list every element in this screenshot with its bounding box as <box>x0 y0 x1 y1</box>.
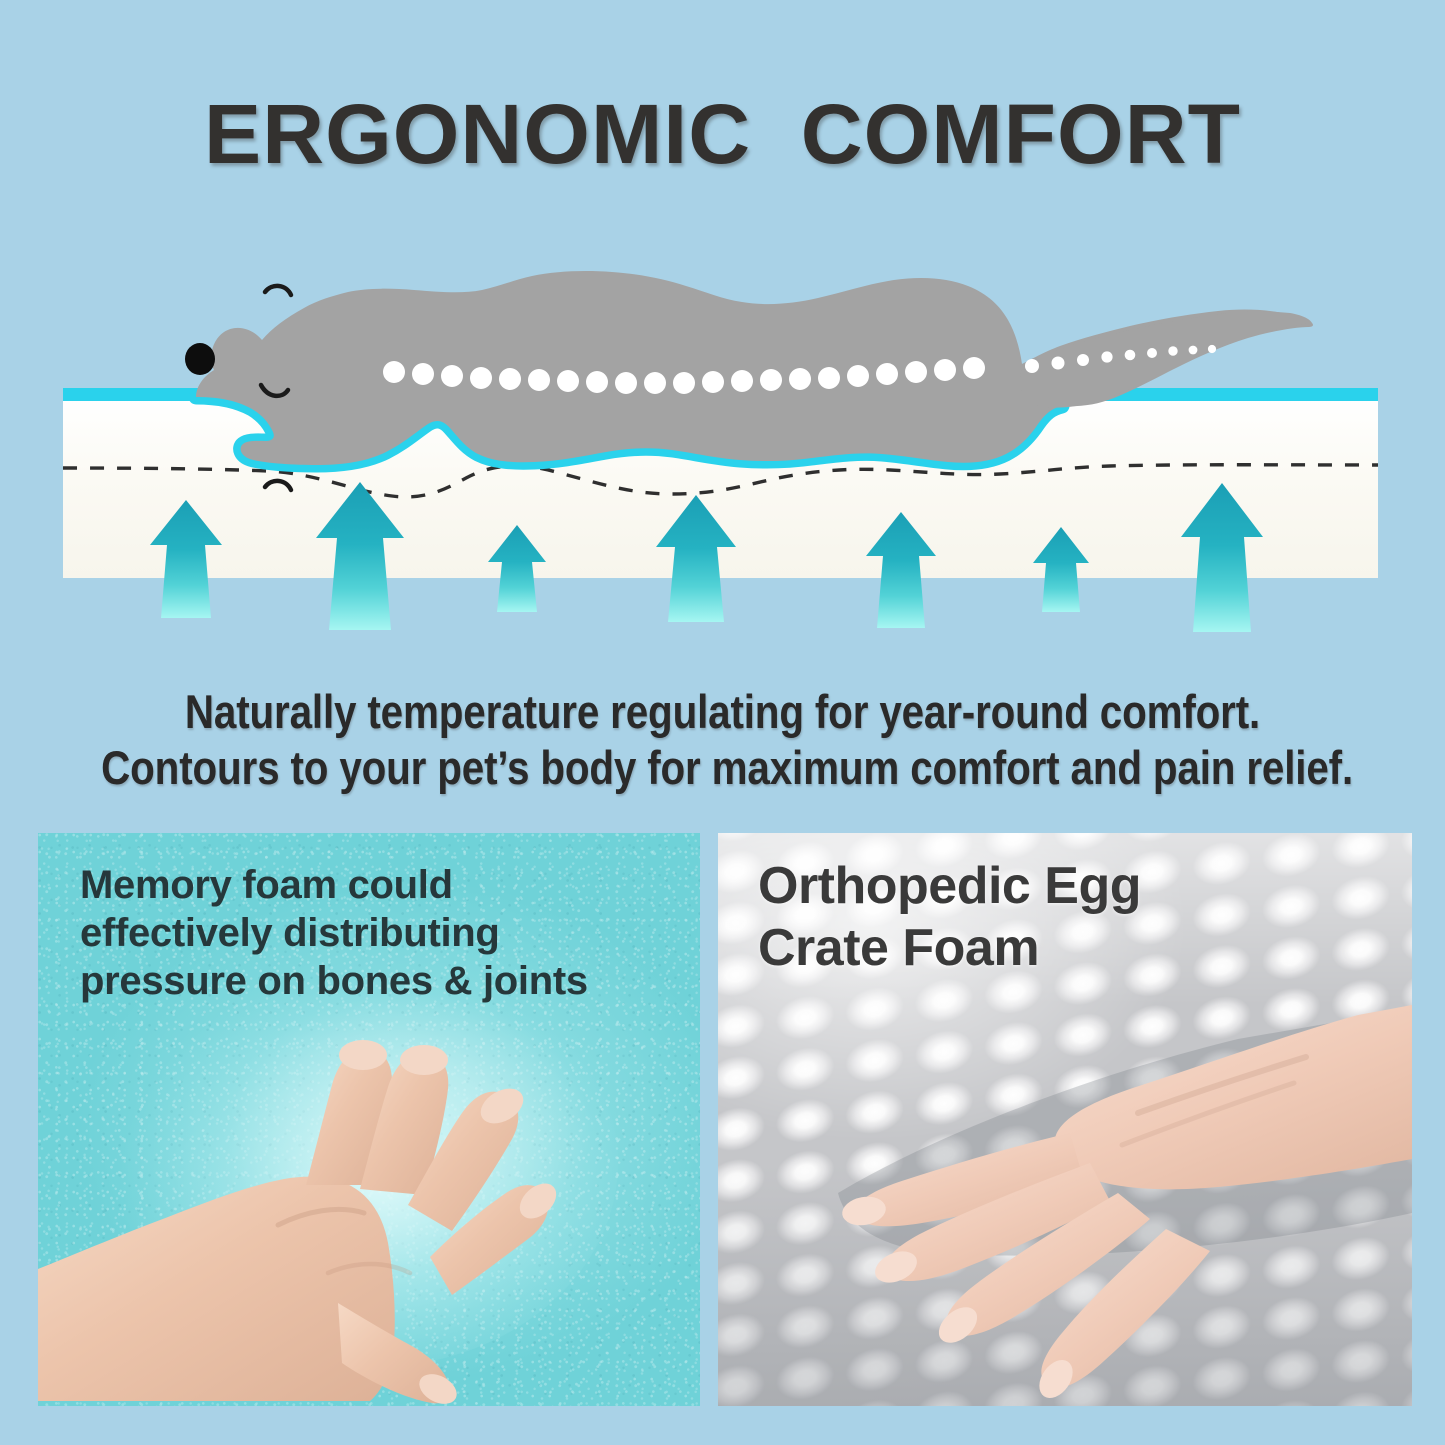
infographic-stage: ERGONOMIC COMFORT <box>0 0 1445 1445</box>
egg-crate-caption: Orthopedic Egg Crate Foam <box>758 855 1141 979</box>
caption-line: pressure on bones & joints <box>80 957 588 1005</box>
page-title: ERGONOMIC COMFORT <box>0 86 1445 183</box>
pet-nose <box>185 343 215 375</box>
caption-line: Orthopedic Egg <box>758 855 1141 917</box>
subtitle-line-2: Contours to your pet’s body for maximum … <box>101 740 1344 796</box>
memory-foam-caption: Memory foam could effectively distributi… <box>80 861 588 1005</box>
caption-line: Memory foam could <box>80 861 588 909</box>
egg-crate-foam-panel: Orthopedic Egg Crate Foam <box>718 833 1412 1406</box>
caption-line: Crate Foam <box>758 917 1141 979</box>
pet-on-mattress-diagram <box>0 200 1445 660</box>
pet-eye-line <box>265 286 291 295</box>
memory-foam-panel: Memory foam could effectively distributi… <box>38 833 700 1406</box>
caption-line: effectively distributing <box>80 909 588 957</box>
feature-panels: Memory foam could effectively distributi… <box>0 833 1445 1408</box>
subtitle-line-1: Naturally temperature regulating for yea… <box>101 684 1344 740</box>
subtitle-block: Naturally temperature regulating for yea… <box>0 684 1445 796</box>
